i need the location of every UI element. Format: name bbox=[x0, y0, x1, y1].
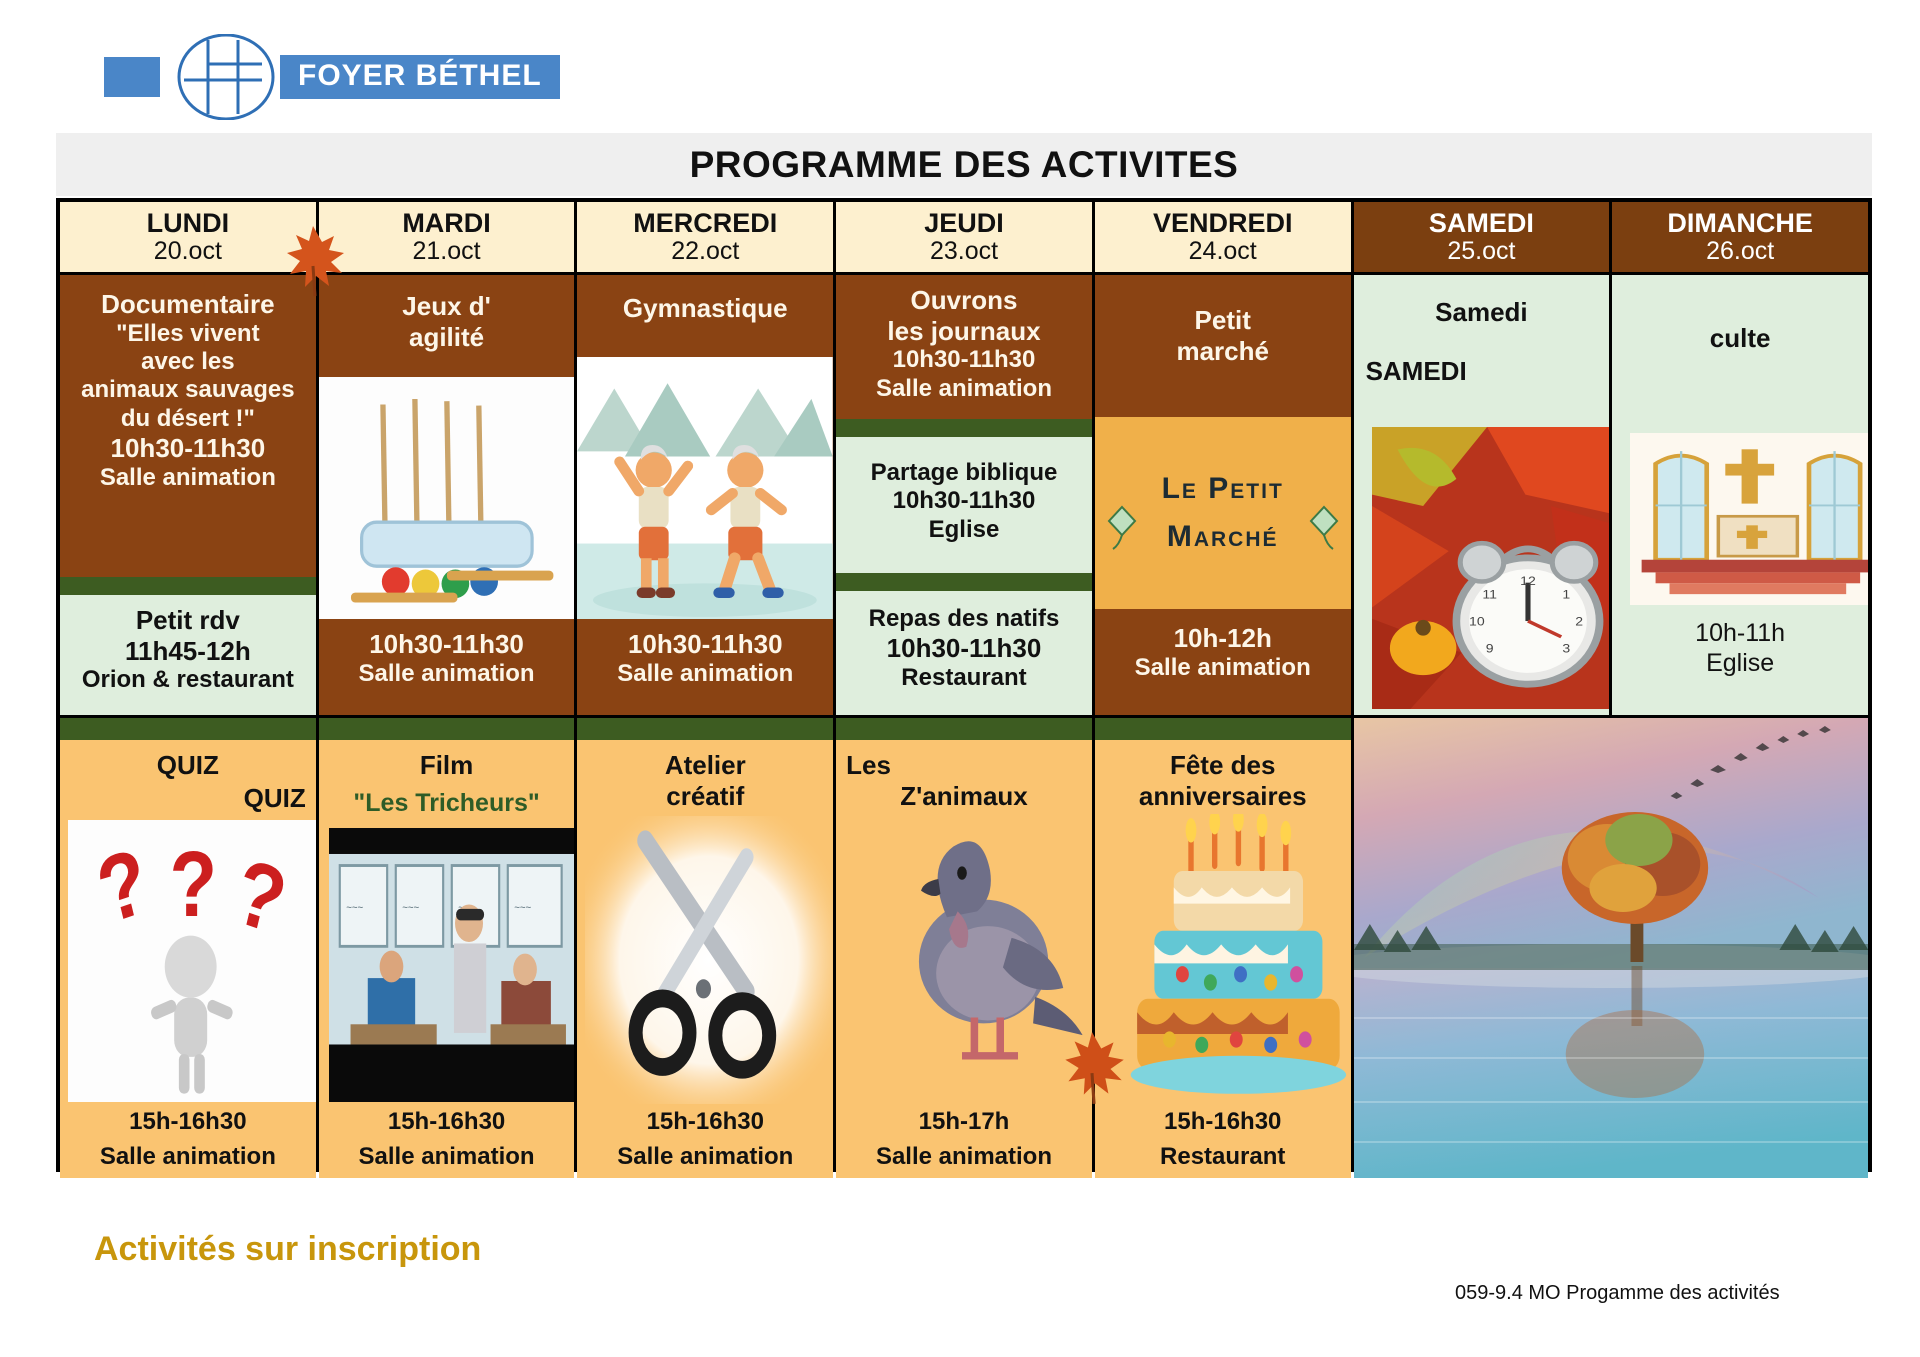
activity-line: "Elles vivent bbox=[64, 320, 312, 348]
film-title: "Les Tricheurs" bbox=[323, 781, 571, 818]
seniors-exercising-illustration bbox=[577, 357, 833, 619]
scissors-photo bbox=[585, 816, 833, 1104]
activity-partage-biblique: Partage biblique 10h30-11h30 Eglise bbox=[836, 437, 1092, 573]
morning-cell-samedi: Samedi SAMEDI bbox=[1354, 275, 1610, 715]
activity-documentaire: Documentaire "Elles vivent avec les anim… bbox=[60, 275, 316, 577]
day-header-dimanche: DIMANCHE 26.oct bbox=[1612, 202, 1868, 272]
activity-title: Ouvrons bbox=[840, 285, 1088, 316]
activity-time: 10h30-11h30 bbox=[323, 629, 571, 660]
activity-place: Salle animation bbox=[581, 1143, 829, 1178]
leaf-ornament-icon bbox=[1105, 505, 1139, 551]
activity-place: Eglise bbox=[1616, 649, 1864, 679]
day-date: 22.oct bbox=[671, 238, 739, 265]
activity-culte-title: culte bbox=[1612, 275, 1868, 433]
svg-text:12: 12 bbox=[1520, 574, 1536, 588]
activity-line: du désert !" bbox=[64, 405, 312, 433]
activity-title: Les bbox=[840, 740, 1088, 781]
day-date: 24.oct bbox=[1189, 238, 1257, 265]
activity-label: SAMEDI bbox=[1358, 328, 1606, 387]
day-header-vendredi: VENDREDI 24.oct bbox=[1095, 202, 1351, 272]
day-name: DIMANCHE bbox=[1667, 209, 1813, 238]
activity-place: Salle animation bbox=[323, 1143, 571, 1178]
activity-title: Petit bbox=[1099, 305, 1347, 336]
activity-time: 15h-16h30 bbox=[581, 1108, 829, 1143]
activity-place: Restaurant bbox=[1099, 1143, 1347, 1178]
afternoon-cell-vendredi: Fête des anniversaires bbox=[1095, 718, 1351, 1178]
section-divider bbox=[836, 718, 1092, 740]
activity-time: 10h-11h bbox=[1616, 619, 1864, 649]
activity-place: Salle animation bbox=[64, 1143, 312, 1178]
activity-gymnastique-title: Gymnastique bbox=[577, 275, 833, 357]
activity-time: 10h30-11h30 bbox=[840, 487, 1088, 515]
activity-time: 10h30-11h30 bbox=[64, 433, 312, 464]
svg-text:11: 11 bbox=[1482, 587, 1497, 601]
day-header-samedi: SAMEDI 25.oct bbox=[1354, 202, 1610, 272]
activity-time: 10h-12h bbox=[1099, 623, 1347, 654]
activity-jeux-agilite-title: Jeux d' agilité bbox=[319, 275, 575, 377]
les-tricheurs-film-still: ~~~~~~~~~~~~ bbox=[329, 828, 575, 1102]
svg-text:2: 2 bbox=[1575, 614, 1583, 628]
croquet-set-photo bbox=[319, 377, 575, 619]
activity-petit-marche-info: 10h-12h Salle animation bbox=[1095, 609, 1351, 715]
svg-text:3: 3 bbox=[1562, 641, 1570, 655]
activity-time: 10h30-11h30 bbox=[581, 629, 829, 660]
morning-cell-lundi: Documentaire "Elles vivent avec les anim… bbox=[60, 275, 316, 715]
schedule-grid: LUNDI 20.oct MARDI 21.oct MERCREDI 22.oc… bbox=[56, 198, 1872, 1172]
activity-place: Orion & restaurant bbox=[64, 666, 312, 694]
day-date: 25.oct bbox=[1447, 238, 1515, 265]
activity-time: 15h-16h30 bbox=[64, 1108, 312, 1143]
section-divider bbox=[836, 419, 1092, 437]
afternoon-cell-lundi: QUIZ QUIZ ? ? ? bbox=[60, 718, 316, 1178]
activity-title: Z'animaux bbox=[840, 781, 1088, 812]
footer-note: Activités sur inscription bbox=[94, 1230, 481, 1269]
page-title: PROGRAMME DES ACTIVITES bbox=[690, 144, 1239, 186]
activity-title: Atelier bbox=[581, 740, 829, 781]
svg-text:~~~: ~~~ bbox=[514, 902, 531, 916]
autumn-clock-photo: 1212 3910 11 bbox=[1372, 427, 1610, 709]
activity-title: Film bbox=[323, 740, 571, 781]
morning-cell-vendredi: Petit marché Le Petit Marché 10h-12h Sal… bbox=[1095, 275, 1351, 715]
svg-text:1: 1 bbox=[1562, 587, 1570, 601]
day-header-lundi: LUNDI 20.oct bbox=[60, 202, 316, 272]
activity-time: 15h-16h30 bbox=[323, 1108, 571, 1143]
activity-title: anniversaires bbox=[1099, 781, 1347, 812]
church-altar-illustration bbox=[1630, 433, 1868, 605]
svg-text:10: 10 bbox=[1469, 614, 1485, 628]
afternoon-cell-jeudi: Les Z'animaux bbox=[836, 718, 1092, 1178]
day-header-jeudi: JEUDI 23.oct bbox=[836, 202, 1092, 272]
activity-time: 11h45-12h bbox=[64, 636, 312, 667]
sign-text-line2: Marché bbox=[1167, 520, 1279, 554]
section-divider bbox=[836, 573, 1092, 591]
brand-name: FOYER BÉTHEL bbox=[280, 55, 560, 99]
day-name: MARDI bbox=[402, 209, 491, 238]
svg-text:9: 9 bbox=[1485, 641, 1493, 655]
activity-place: Salle animation bbox=[840, 1143, 1088, 1178]
activity-place: Eglise bbox=[840, 516, 1088, 544]
svg-text:~~~: ~~~ bbox=[402, 902, 419, 916]
activity-place: Salle animation bbox=[64, 464, 312, 492]
activity-place: Salle animation bbox=[581, 660, 829, 688]
activity-place: Salle animation bbox=[323, 660, 571, 688]
svg-text:?: ? bbox=[169, 833, 217, 937]
afternoon-cell-weekend-image bbox=[1354, 718, 1868, 1178]
activity-time: 15h-17h bbox=[840, 1108, 1088, 1143]
activity-culte-info: 10h-11h Eglise bbox=[1612, 605, 1868, 715]
brand-logo: FOYER BÉTHEL bbox=[104, 46, 560, 108]
section-divider bbox=[60, 577, 316, 595]
le-petit-marche-sign: Le Petit Marché bbox=[1095, 417, 1351, 609]
activity-schedule-page: FOYER BÉTHEL PROGRAMME DES ACTIVITES LUN… bbox=[0, 0, 1920, 1357]
sign-text-line1: Le Petit bbox=[1162, 472, 1284, 506]
activity-title: Documentaire bbox=[64, 289, 312, 320]
section-divider bbox=[319, 718, 575, 740]
activity-place: Restaurant bbox=[840, 664, 1088, 692]
morning-cell-jeudi: Ouvrons les journaux 10h30-11h30 Salle a… bbox=[836, 275, 1092, 715]
day-date: 26.oct bbox=[1706, 238, 1774, 265]
activity-title: créatif bbox=[581, 781, 829, 812]
footer-reference: 059-9.4 MO Progamme des activités bbox=[1455, 1282, 1780, 1305]
activity-title: Partage biblique bbox=[840, 459, 1088, 487]
activity-time: 15h-16h30 bbox=[1099, 1108, 1347, 1143]
section-divider bbox=[60, 718, 316, 740]
question-marks-figure-photo: ? ? ? bbox=[68, 820, 316, 1102]
activity-title: culte bbox=[1616, 323, 1864, 354]
day-header-mercredi: MERCREDI 22.oct bbox=[577, 202, 833, 272]
activity-line: animaux sauvages bbox=[64, 376, 312, 404]
day-name: SAMEDI bbox=[1429, 209, 1534, 238]
afternoon-cell-mardi: Film "Les Tricheurs" ~~~~~~~~~~~~ bbox=[319, 718, 575, 1178]
activity-jeux-agilite-info: 10h30-11h30 Salle animation bbox=[319, 619, 575, 715]
activity-place: Salle animation bbox=[1099, 654, 1347, 682]
activity-line: avec les bbox=[64, 348, 312, 376]
activity-ouvrons-journaux: Ouvrons les journaux 10h30-11h30 Salle a… bbox=[836, 275, 1092, 419]
activity-title: QUIZ bbox=[64, 740, 312, 781]
svg-text:~~~: ~~~ bbox=[346, 902, 363, 916]
day-name: VENDREDI bbox=[1153, 209, 1293, 238]
activity-time: 10h30-11h30 bbox=[840, 633, 1088, 664]
page-title-bar: PROGRAMME DES ACTIVITES bbox=[56, 133, 1872, 196]
day-date: 23.oct bbox=[930, 238, 998, 265]
section-divider bbox=[577, 718, 833, 740]
activity-gymnastique-info: 10h30-11h30 Salle animation bbox=[577, 619, 833, 715]
day-name: LUNDI bbox=[147, 209, 230, 238]
morning-cell-dimanche: culte bbox=[1612, 275, 1868, 715]
autumn-tree-rainbow-lake-photo bbox=[1354, 718, 1868, 1178]
activity-title: Jeux d' bbox=[323, 291, 571, 322]
activity-title: agilité bbox=[323, 322, 571, 353]
afternoon-cell-mercredi: Atelier créatif bbox=[577, 718, 833, 1178]
day-name: MERCREDI bbox=[633, 209, 777, 238]
leaf-ornament-icon bbox=[1307, 505, 1341, 551]
activity-time: 10h30-11h30 bbox=[840, 346, 1088, 374]
day-header-mardi: MARDI 21.oct bbox=[319, 202, 575, 272]
activity-title: Fête des bbox=[1099, 740, 1347, 781]
activity-petit-rdv: Petit rdv 11h45-12h Orion & restaurant bbox=[60, 595, 316, 715]
activity-repas-natifs: Repas des natifs 10h30-11h30 Restaurant bbox=[836, 591, 1092, 715]
pigeon-photo bbox=[850, 820, 1092, 1100]
activity-title: Gymnastique bbox=[581, 293, 829, 324]
day-name: JEUDI bbox=[924, 209, 1004, 238]
day-date: 21.oct bbox=[413, 238, 481, 265]
bethel-cross-logo-icon bbox=[166, 34, 286, 120]
activity-place: Salle animation bbox=[840, 375, 1088, 403]
logo-square-icon bbox=[104, 57, 160, 97]
morning-cell-mercredi: Gymnastique bbox=[577, 275, 833, 715]
activity-title: les journaux bbox=[840, 316, 1088, 347]
activity-samedi-labels: Samedi SAMEDI bbox=[1354, 275, 1610, 427]
activity-petit-marche-title: Petit marché bbox=[1095, 275, 1351, 417]
morning-cell-mardi: Jeux d' agilité bbox=[319, 275, 575, 715]
birthday-cake-photo bbox=[1107, 814, 1351, 1106]
activity-title: Repas des natifs bbox=[840, 605, 1088, 633]
activity-title-secondary: QUIZ bbox=[64, 781, 312, 814]
section-divider bbox=[1095, 718, 1351, 740]
activity-title: marché bbox=[1099, 336, 1347, 367]
activity-title: Samedi bbox=[1358, 297, 1606, 328]
activity-title: Petit rdv bbox=[64, 605, 312, 636]
day-date: 20.oct bbox=[154, 238, 222, 265]
